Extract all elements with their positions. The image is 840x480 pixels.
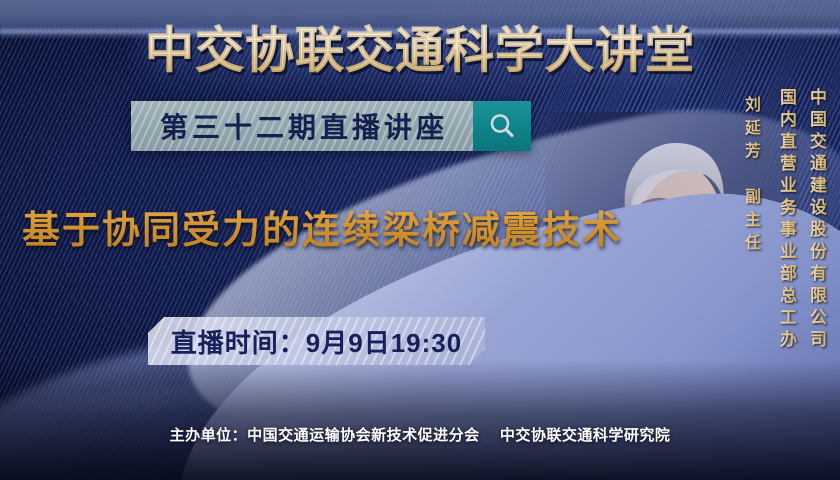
speaker-organization-line-2: 国内直营业务事业部总工办: [775, 88, 798, 352]
lecture-title: 基于协同受力的连续梁桥减震技术: [22, 206, 622, 254]
speaker-name-role: 刘延芳 副主任: [739, 96, 762, 257]
speaker-organization-line-1: 中国交通建设股份有限公司: [805, 88, 828, 352]
live-time-text: 直播时间：9月9日19:30: [171, 323, 462, 360]
poster-headline: 中交协联交通科学大讲堂: [0, 22, 840, 80]
episode-banner-body: 第三十二期直播讲座: [131, 101, 473, 151]
organizers-footer: 主办单位：中国交通运输协会新技术促进分会 中交协联交通科学研究院: [0, 424, 840, 445]
episode-label: 第三十二期直播讲座: [156, 106, 448, 146]
episode-banner: 第三十二期直播讲座: [131, 101, 531, 151]
search-button[interactable]: [473, 101, 531, 151]
live-time-badge: 直播时间：9月9日19:30: [148, 317, 485, 365]
search-icon: [487, 111, 517, 141]
bottom-vignette: [0, 360, 840, 480]
live-stream-poster: 中交协联交通科学大讲堂 第三十二期直播讲座 基于协同受力的连续梁桥减震技术 直播…: [0, 0, 840, 480]
